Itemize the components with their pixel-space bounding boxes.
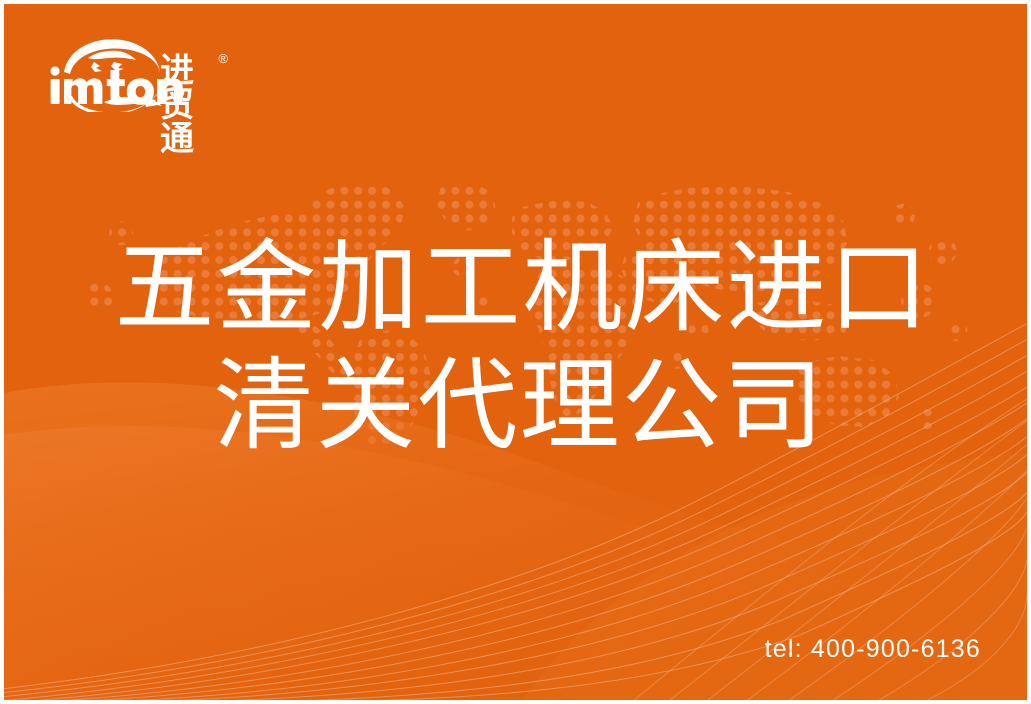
headline-line-2: 清关代理公司 — [4, 350, 1031, 462]
globe-arc-icon — [64, 39, 160, 74]
registered-trademark-icon: ® — [218, 52, 228, 65]
headline-line-1: 五金加工机床进口 — [10, 232, 1031, 344]
promo-banner: 进贸通 ® 五金加工机床进口 清关代理公司 tel: 400-900-6136 — [0, 0, 1031, 704]
logo-chinese-name: 进贸通 — [160, 54, 217, 156]
imton-logo[interactable]: 进贸通 ® — [48, 34, 228, 112]
headline: 五金加工机床进口 清关代理公司 — [4, 232, 1031, 462]
phone-number[interactable]: tel: 400-900-6136 — [765, 635, 981, 664]
